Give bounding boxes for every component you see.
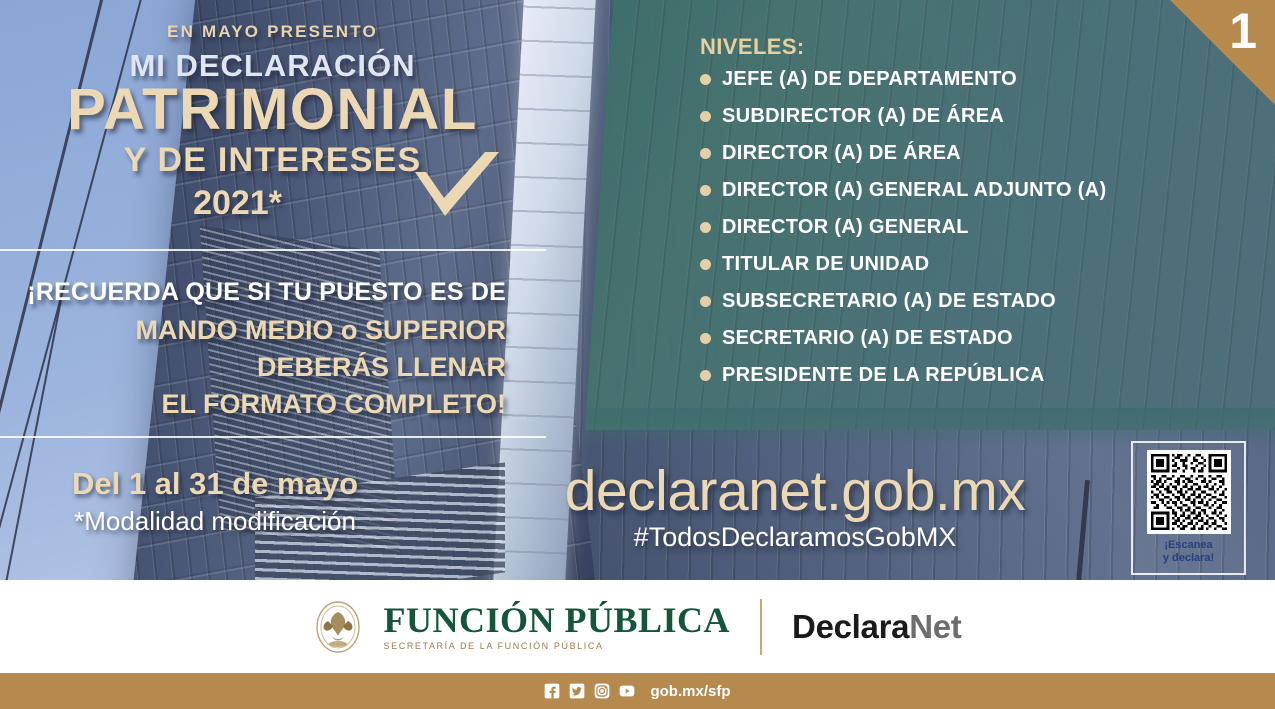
qr-code-icon[interactable] (1147, 450, 1231, 534)
list-item: SUBSECRETARIO (A) DE ESTADO (700, 290, 1200, 313)
declaranet-poster: 1 EN MAYO PRESENTO MI DECLARACIÓN PATRIM… (0, 0, 1275, 709)
qr-caption: ¡Escanea y declara! (1163, 539, 1214, 564)
list-item: DIRECTOR (A) DE ÁREA (700, 142, 1200, 165)
bullet-icon (700, 111, 711, 122)
recuerda-line-4: EL FORMATO COMPLETO! (0, 389, 506, 420)
funcion-publica-text: FUNCIÓN PÚBLICA SECRETARÍA DE LA FUNCIÓN… (384, 602, 731, 651)
mexico-coat-of-arms-icon (314, 600, 362, 654)
nivel-label: DIRECTOR (A) GENERAL (722, 216, 969, 239)
list-item: TITULAR DE UNIDAD (700, 253, 1200, 276)
nivel-label: DIRECTOR (A) GENERAL ADJUNTO (A) (722, 179, 1106, 202)
list-item: DIRECTOR (A) GENERAL ADJUNTO (A) (700, 179, 1200, 202)
website-url[interactable]: declaranet.gob.mx (490, 462, 1100, 520)
nivel-label: DIRECTOR (A) DE ÁREA (722, 142, 961, 165)
recuerda-line-3: DEBERÁS LLENAR (0, 352, 506, 383)
qr-card[interactable]: ¡Escanea y declara! (1131, 441, 1246, 575)
headline-block: EN MAYO PRESENTO MI DECLARACIÓN PATRIMON… (0, 22, 545, 223)
funcion-publica-logo: FUNCIÓN PÚBLICA SECRETARÍA DE LA FUNCIÓN… (314, 599, 962, 655)
checkmark-icon (411, 150, 503, 230)
qr-caption-line-2: y declara! (1163, 552, 1214, 565)
divider-rule-bottom (0, 436, 546, 438)
nivel-label: SUBSECRETARIO (A) DE ESTADO (722, 290, 1056, 313)
hashtag: #TodosDeclaramosGobMX (490, 522, 1100, 553)
niveles-list: NIVELES: JEFE (A) DE DEPARTAMENTO SUBDIR… (700, 34, 1200, 401)
declaranet-first: Declara (792, 608, 909, 645)
bullet-icon (700, 259, 711, 270)
date-range: Del 1 al 31 de mayo (0, 466, 430, 502)
qr-caption-line-1: ¡Escanea (1163, 539, 1214, 552)
footer-url[interactable]: gob.mx/sfp (650, 683, 730, 700)
funcion-publica-subtitle: SECRETARÍA DE LA FUNCIÓN PÚBLICA (384, 642, 731, 651)
twitter-icon[interactable] (569, 683, 585, 699)
page-number: 1 (1229, 6, 1257, 56)
headline-kicker: EN MAYO PRESENTO (0, 22, 545, 42)
logo-divider (760, 599, 762, 655)
nivel-label: PRESIDENTE DE LA REPÚBLICA (722, 364, 1045, 387)
bullet-icon (700, 296, 711, 307)
nivel-label: SECRETARIO (A) DE ESTADO (722, 327, 1013, 350)
bullet-icon (700, 333, 711, 344)
bullet-icon (700, 370, 711, 381)
headline-line-3: PATRIMONIAL (0, 82, 545, 139)
funcion-publica-title: FUNCIÓN PÚBLICA (384, 602, 731, 638)
bullet-icon (700, 74, 711, 85)
footer-bar: gob.mx/sfp (0, 673, 1275, 709)
dates-block: Del 1 al 31 de mayo *Modalidad modificac… (0, 466, 430, 537)
date-note: *Modalidad modificación (0, 506, 430, 537)
list-item: JEFE (A) DE DEPARTAMENTO (700, 68, 1200, 91)
nivel-label: JEFE (A) DE DEPARTAMENTO (722, 68, 1017, 91)
bullet-icon (700, 222, 711, 233)
instagram-icon[interactable] (594, 683, 610, 699)
recuerda-block: ¡RECUERDA QUE SI TU PUESTO ES DE MANDO M… (0, 278, 524, 420)
list-item: PRESIDENTE DE LA REPÚBLICA (700, 364, 1200, 387)
url-block: declaranet.gob.mx #TodosDeclaramosGobMX (490, 462, 1100, 553)
list-item: SECRETARIO (A) DE ESTADO (700, 327, 1200, 350)
divider-rule-top (0, 249, 546, 251)
nivel-label: SUBDIRECTOR (A) DE ÁREA (722, 105, 1004, 128)
facebook-icon[interactable] (544, 683, 560, 699)
bullet-icon (700, 148, 711, 159)
list-item: SUBDIRECTOR (A) DE ÁREA (700, 105, 1200, 128)
nivel-label: TITULAR DE UNIDAD (722, 253, 929, 276)
declaranet-second: Net (909, 608, 961, 645)
recuerda-line-2: MANDO MEDIO o SUPERIOR (0, 315, 506, 346)
logo-bar: FUNCIÓN PÚBLICA SECRETARÍA DE LA FUNCIÓN… (0, 580, 1275, 673)
list-item: DIRECTOR (A) GENERAL (700, 216, 1200, 239)
youtube-icon[interactable] (619, 683, 635, 699)
bullet-icon (700, 185, 711, 196)
niveles-title: NIVELES: (700, 34, 1200, 60)
recuerda-line-1: ¡RECUERDA QUE SI TU PUESTO ES DE (0, 278, 506, 307)
declaranet-logo: DeclaraNet (792, 608, 961, 646)
